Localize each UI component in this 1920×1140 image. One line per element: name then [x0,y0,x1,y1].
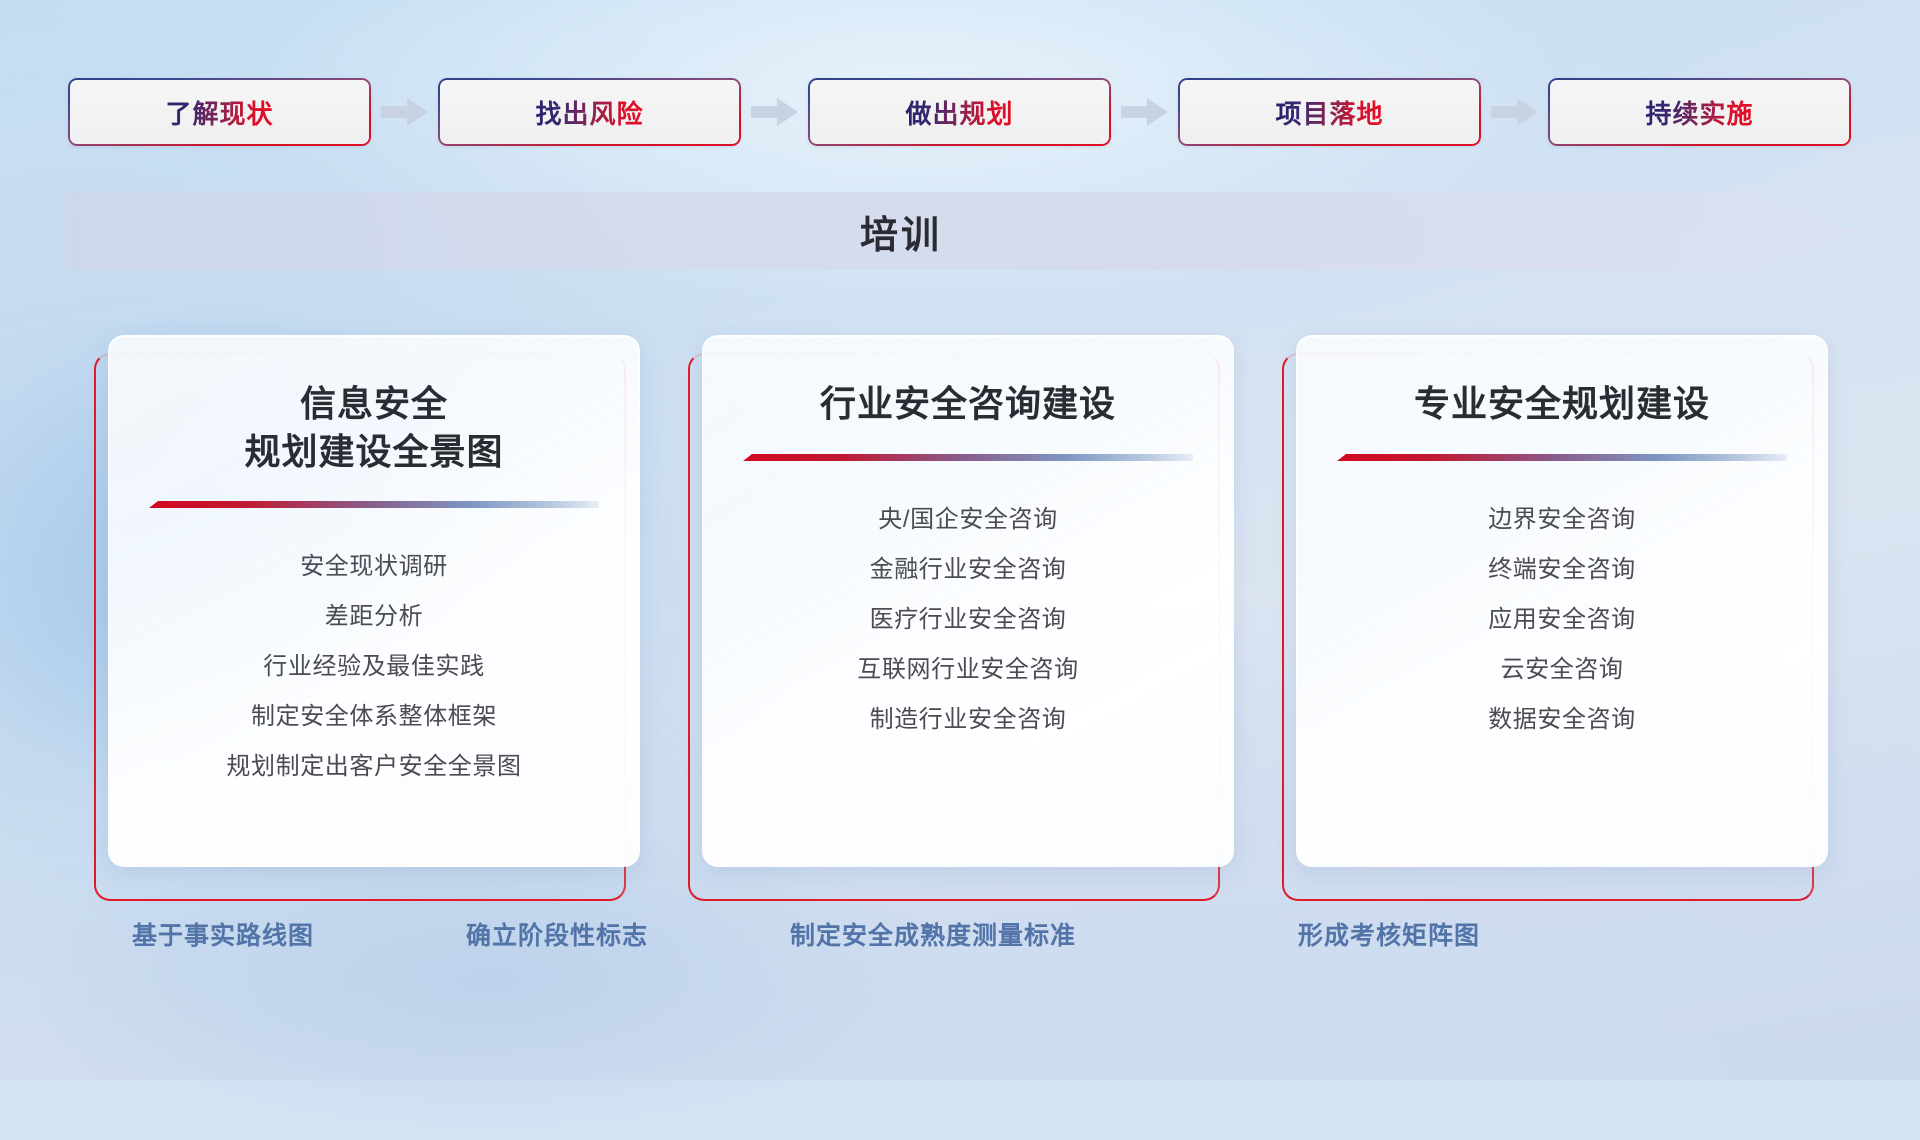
process-step-label: 项目落地 [1275,94,1383,131]
process-step-label: 持续实施 [1645,94,1753,131]
process-step-5[interactable]: 持续实施 [1548,78,1851,146]
card-list-item: 央/国企安全咨询 [878,499,1057,534]
card-title-line: 信息安全 [244,380,503,428]
card-list-item: 云安全咨询 [1501,649,1624,684]
footer-label-1: 基于事实路线图 [132,916,314,952]
gradient-divider-icon [149,501,599,512]
process-step-label: 做出规划 [905,94,1013,131]
card-title: 专业安全规划建设 [1392,380,1732,428]
card-list-item: 数据安全咨询 [1488,699,1636,734]
service-card-3[interactable]: 专业安全规划建设 边界安全咨询终端安全咨询应用安全咨询云安全咨询数据安全咨询 [1296,335,1828,883]
footer-label-2: 确立阶段性标志 [466,916,648,952]
card-list-item: 边界安全咨询 [1488,499,1636,534]
arrow-right-icon [381,97,429,127]
footer-label-3: 制定安全成熟度测量标准 [790,916,1076,952]
footer-labels: 基于事实路线图确立阶段性标志制定安全成熟度测量标准形成考核矩阵图 [0,916,1920,960]
card-body: 专业安全规划建设 边界安全咨询终端安全咨询应用安全咨询云安全咨询数据安全咨询 [1296,335,1828,867]
card-list-item: 行业经验及最佳实践 [263,646,484,681]
step-separator-arrow-icon [741,78,808,146]
process-step-4[interactable]: 项目落地 [1178,78,1481,146]
card-body: 信息安全规划建设全景图 安全现状调研差距分析行业经验及最佳实践制定安全体系整体框… [108,335,640,867]
card-list-item: 应用安全咨询 [1488,599,1636,634]
card-list-item: 终端安全咨询 [1488,549,1636,584]
card-list-item: 差距分析 [325,596,423,631]
arrow-right-icon [1491,97,1539,127]
process-step-3[interactable]: 做出规划 [808,78,1111,146]
service-card-2[interactable]: 行业安全咨询建设 央/国企安全咨询金融行业安全咨询医疗行业安全咨询互联网行业安全… [702,335,1234,883]
arrow-right-icon [1121,97,1169,127]
card-list-item: 医疗行业安全咨询 [870,599,1067,634]
card-list-item: 规划制定出客户安全全景图 [226,746,521,781]
gradient-divider-icon [743,454,1193,465]
training-label: 培训 [66,186,1736,276]
process-step-label: 找出风险 [535,94,643,131]
process-step-label: 了解现状 [165,94,273,131]
footer-label-4: 形成考核矩阵图 [1298,916,1480,952]
step-separator-arrow-icon [1481,78,1548,146]
card-list-item: 金融行业安全咨询 [870,549,1067,584]
card-list-item: 安全现状调研 [300,546,448,581]
card-item-list: 安全现状调研差距分析行业经验及最佳实践制定安全体系整体框架规划制定出客户安全全景… [109,546,639,781]
card-body: 行业安全咨询建设 央/国企安全咨询金融行业安全咨询医疗行业安全咨询互联网行业安全… [702,335,1234,867]
step-separator-arrow-icon [371,78,438,146]
card-item-list: 边界安全咨询终端安全咨询应用安全咨询云安全咨询数据安全咨询 [1297,499,1827,734]
card-item-list: 央/国企安全咨询金融行业安全咨询医疗行业安全咨询互联网行业安全咨询制造行业安全咨… [703,499,1233,734]
arrow-right-icon [751,97,799,127]
card-list-item: 制造行业安全咨询 [870,699,1067,734]
gradient-divider-icon [1337,454,1787,465]
card-title: 行业安全咨询建设 [798,380,1138,428]
training-banner: 培训 [66,186,1856,276]
card-list-item: 制定安全体系整体框架 [251,696,497,731]
card-list-item: 互联网行业安全咨询 [857,649,1078,684]
card-title-line: 行业安全咨询建设 [820,380,1116,428]
card-title-line: 专业安全规划建设 [1414,380,1710,428]
process-step-2[interactable]: 找出风险 [438,78,741,146]
process-steps-row: 了解现状 找出风险 做出规划 项目落地 持续实施 [68,78,1852,146]
card-title-line: 规划建设全景图 [244,428,503,476]
card-title: 信息安全规划建设全景图 [222,380,525,475]
cards-row: 信息安全规划建设全景图 安全现状调研差距分析行业经验及最佳实践制定安全体系整体框… [108,335,1828,883]
step-separator-arrow-icon [1111,78,1178,146]
process-step-1[interactable]: 了解现状 [68,78,371,146]
service-card-1[interactable]: 信息安全规划建设全景图 安全现状调研差距分析行业经验及最佳实践制定安全体系整体框… [108,335,640,883]
